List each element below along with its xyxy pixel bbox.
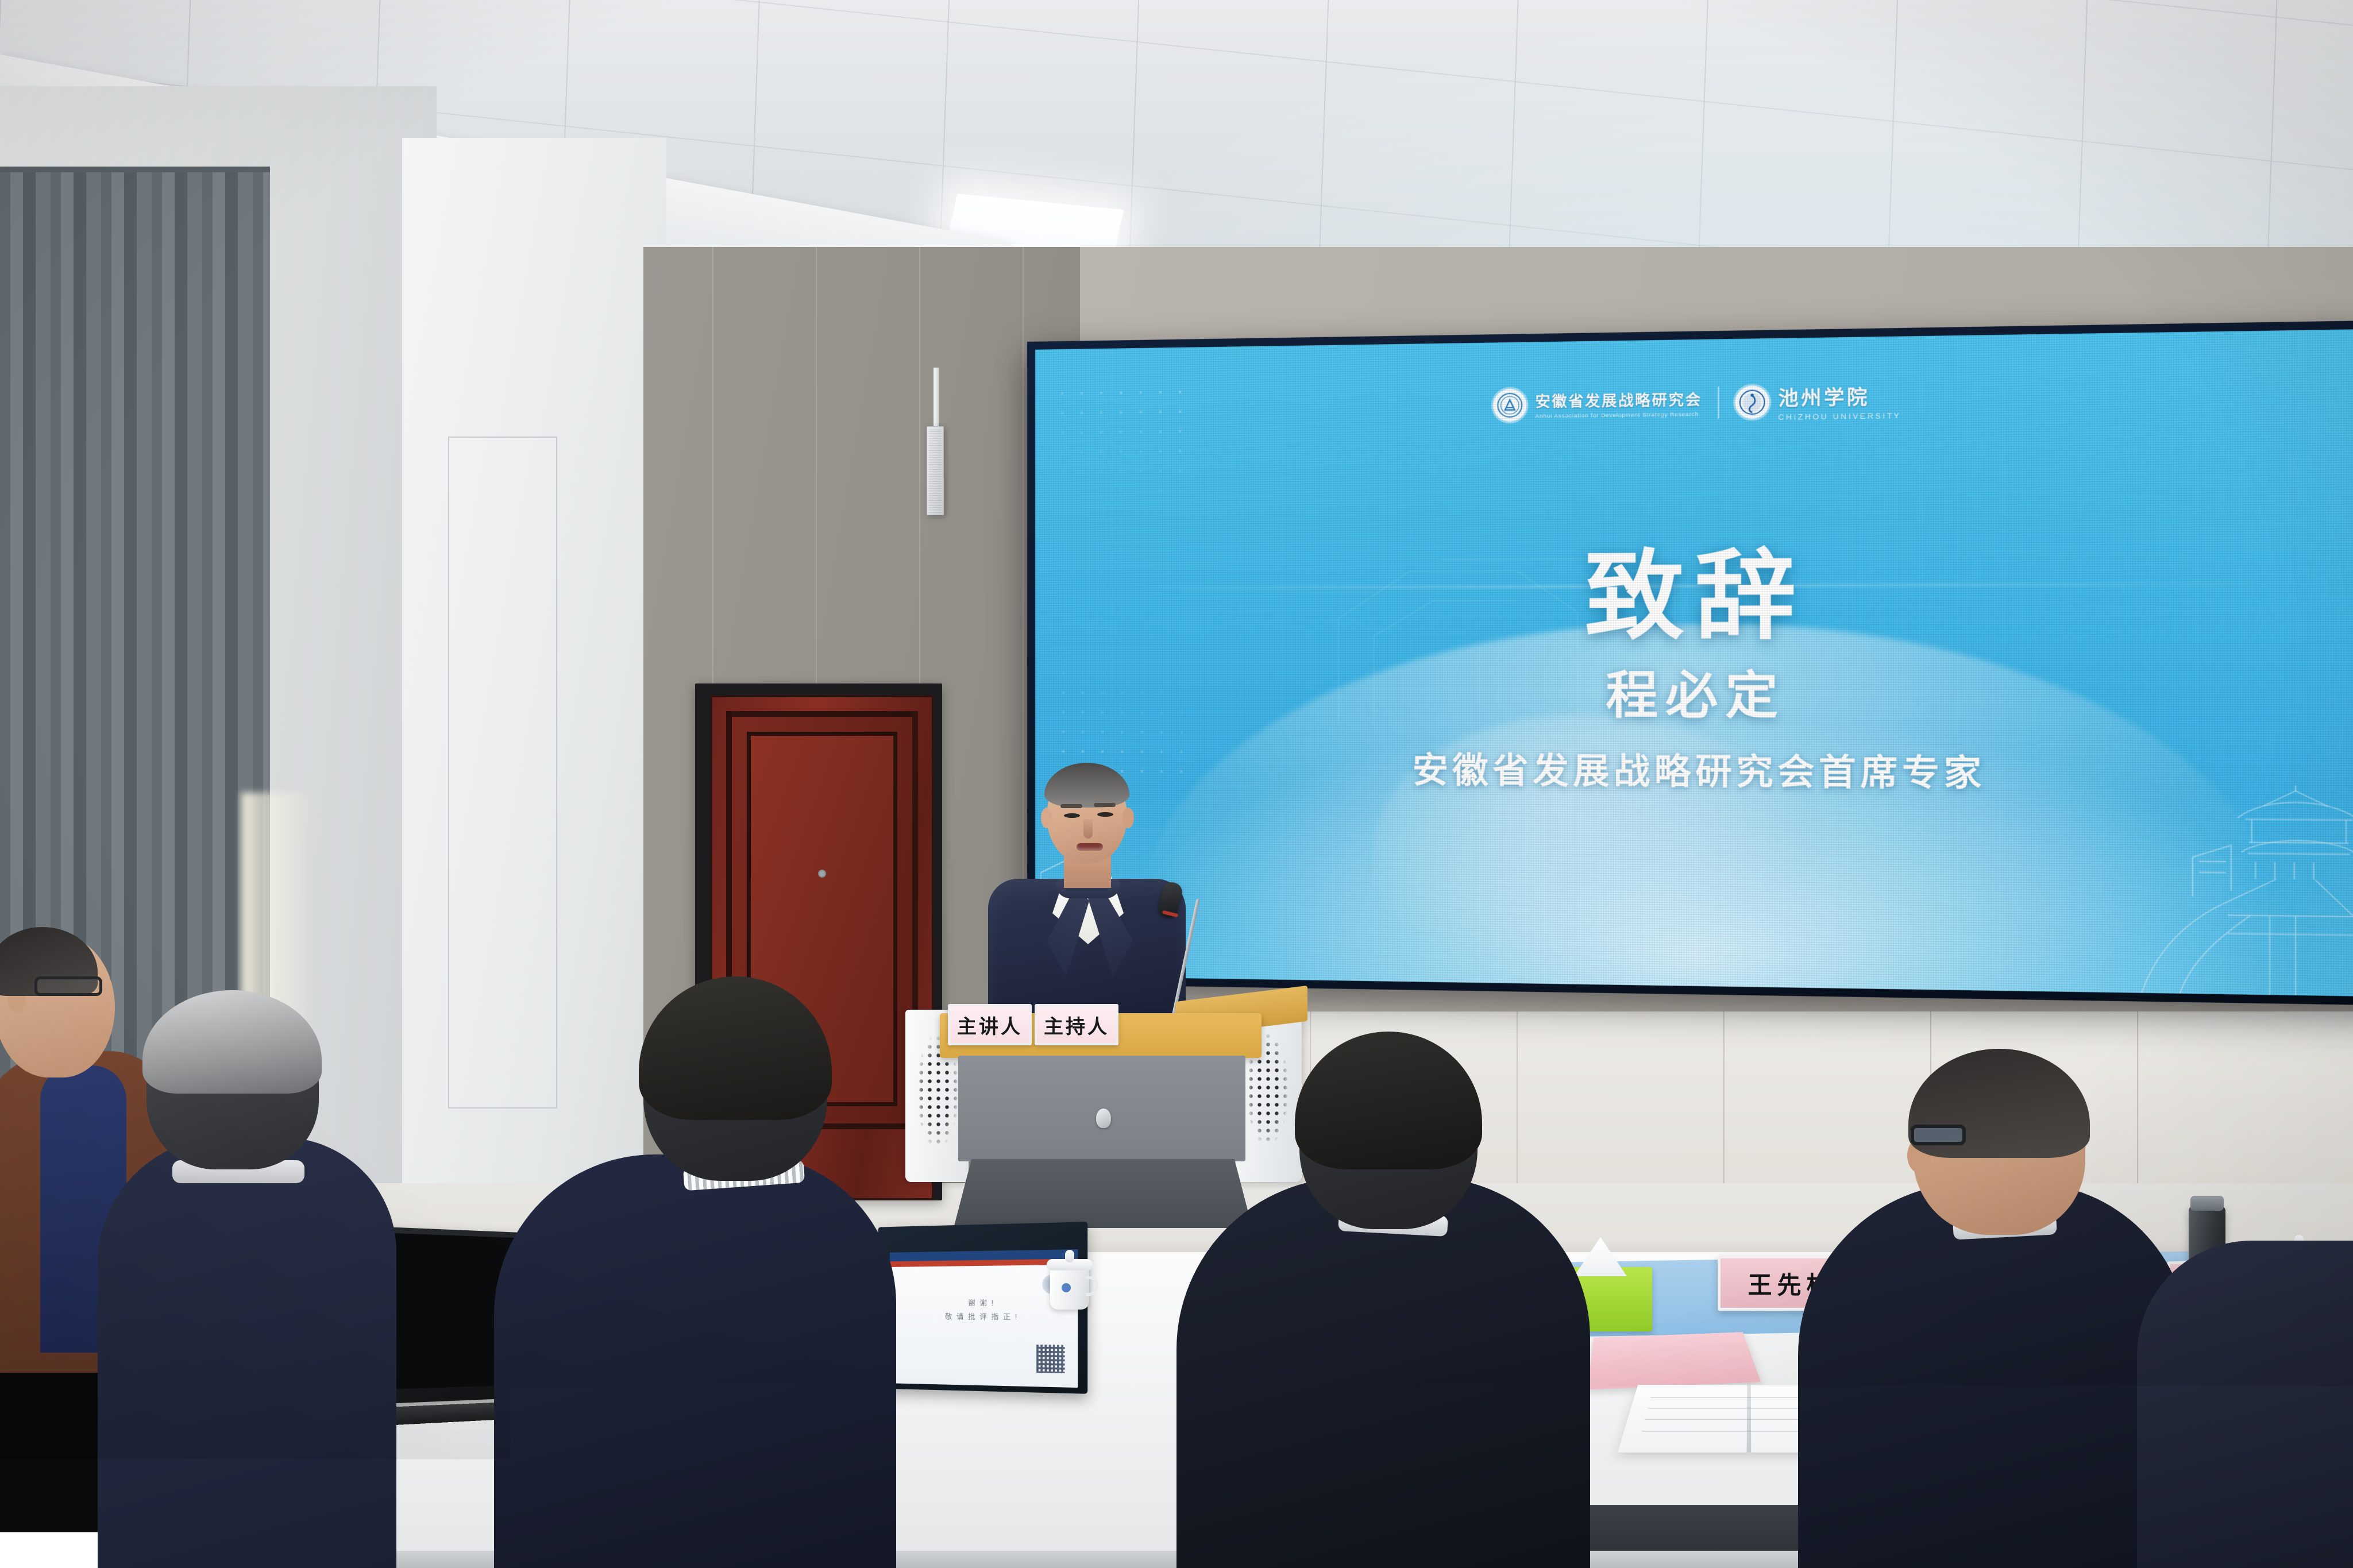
association-seal-icon bbox=[1493, 389, 1527, 422]
led-screen-surface: 安徽省发展战略研究会 Anhui Association for Develop… bbox=[1035, 329, 2353, 997]
presenter-brow-right bbox=[1094, 803, 1116, 807]
presenter-person bbox=[992, 766, 1181, 1013]
presenter-eye-left bbox=[1064, 813, 1080, 818]
plaque-speaker: 主讲人 bbox=[948, 1004, 1032, 1045]
attendee-5-glasses-icon bbox=[1911, 1125, 1966, 1145]
lectern-knob-icon[interactable] bbox=[1096, 1109, 1111, 1128]
association-name-cn: 安徽省发展战略研究会 bbox=[1536, 388, 1702, 412]
door-peephole-icon bbox=[818, 870, 826, 878]
wall-panel bbox=[448, 437, 557, 1109]
logo-university: 池州学院 CHIZHOU UNIVERSITY bbox=[1735, 381, 1901, 422]
plaque-host: 主持人 bbox=[1035, 1004, 1118, 1045]
slide-thanks-line2: 敬 请 批 评 指 正 ! bbox=[890, 1311, 1078, 1322]
slide-speaker-name: 程必定 bbox=[1035, 654, 2353, 730]
screen-logo-row: 安徽省发展战略研究会 Anhui Association for Develop… bbox=[1035, 374, 2353, 430]
lectern-base bbox=[954, 1159, 1252, 1228]
presenter-hair bbox=[1044, 763, 1129, 808]
presenter-mouth bbox=[1077, 843, 1103, 851]
plaque-host-label: 主持人 bbox=[1044, 1011, 1109, 1039]
university-name-en: CHIZHOU UNIVERSITY bbox=[1778, 411, 1901, 422]
presenter-ear-right bbox=[1123, 808, 1134, 828]
logo-divider bbox=[1718, 387, 1719, 419]
attendee-far-right bbox=[2137, 1241, 2353, 1568]
logo-association: 安徽省发展战略研究会 Anhui Association for Develop… bbox=[1493, 387, 1702, 422]
qr-code-icon bbox=[1036, 1345, 1064, 1373]
documents-right bbox=[1587, 1332, 1761, 1389]
university-name-cn: 池州学院 bbox=[1778, 381, 1901, 411]
attendee-1-glasses-icon bbox=[34, 976, 102, 996]
presenter-eye-right bbox=[1097, 812, 1113, 817]
slide-title: 致辞 bbox=[1035, 512, 2353, 658]
tea-cup-center bbox=[1046, 1250, 1095, 1310]
wall-column-speaker bbox=[927, 426, 944, 515]
presenter-brow-left bbox=[1060, 804, 1082, 808]
association-name-en: Anhui Association for Development Strate… bbox=[1536, 411, 1702, 420]
lectern-plaques: 主讲人 主持人 bbox=[948, 1004, 1118, 1045]
pagoda-line-art-icon bbox=[2103, 732, 2353, 997]
speaker-cable-conduit bbox=[934, 368, 939, 431]
presenter-ear-left bbox=[1041, 808, 1052, 828]
university-seal-icon bbox=[1735, 385, 1770, 419]
led-video-wall: 安徽省发展战略研究会 Anhui Association for Develop… bbox=[1027, 320, 2353, 1006]
plaque-speaker-label: 主讲人 bbox=[957, 1011, 1023, 1039]
presenter-nose bbox=[1083, 819, 1093, 839]
conference-room-scene: 安徽省发展战略研究会 Anhui Association for Develop… bbox=[0, 0, 2353, 1568]
